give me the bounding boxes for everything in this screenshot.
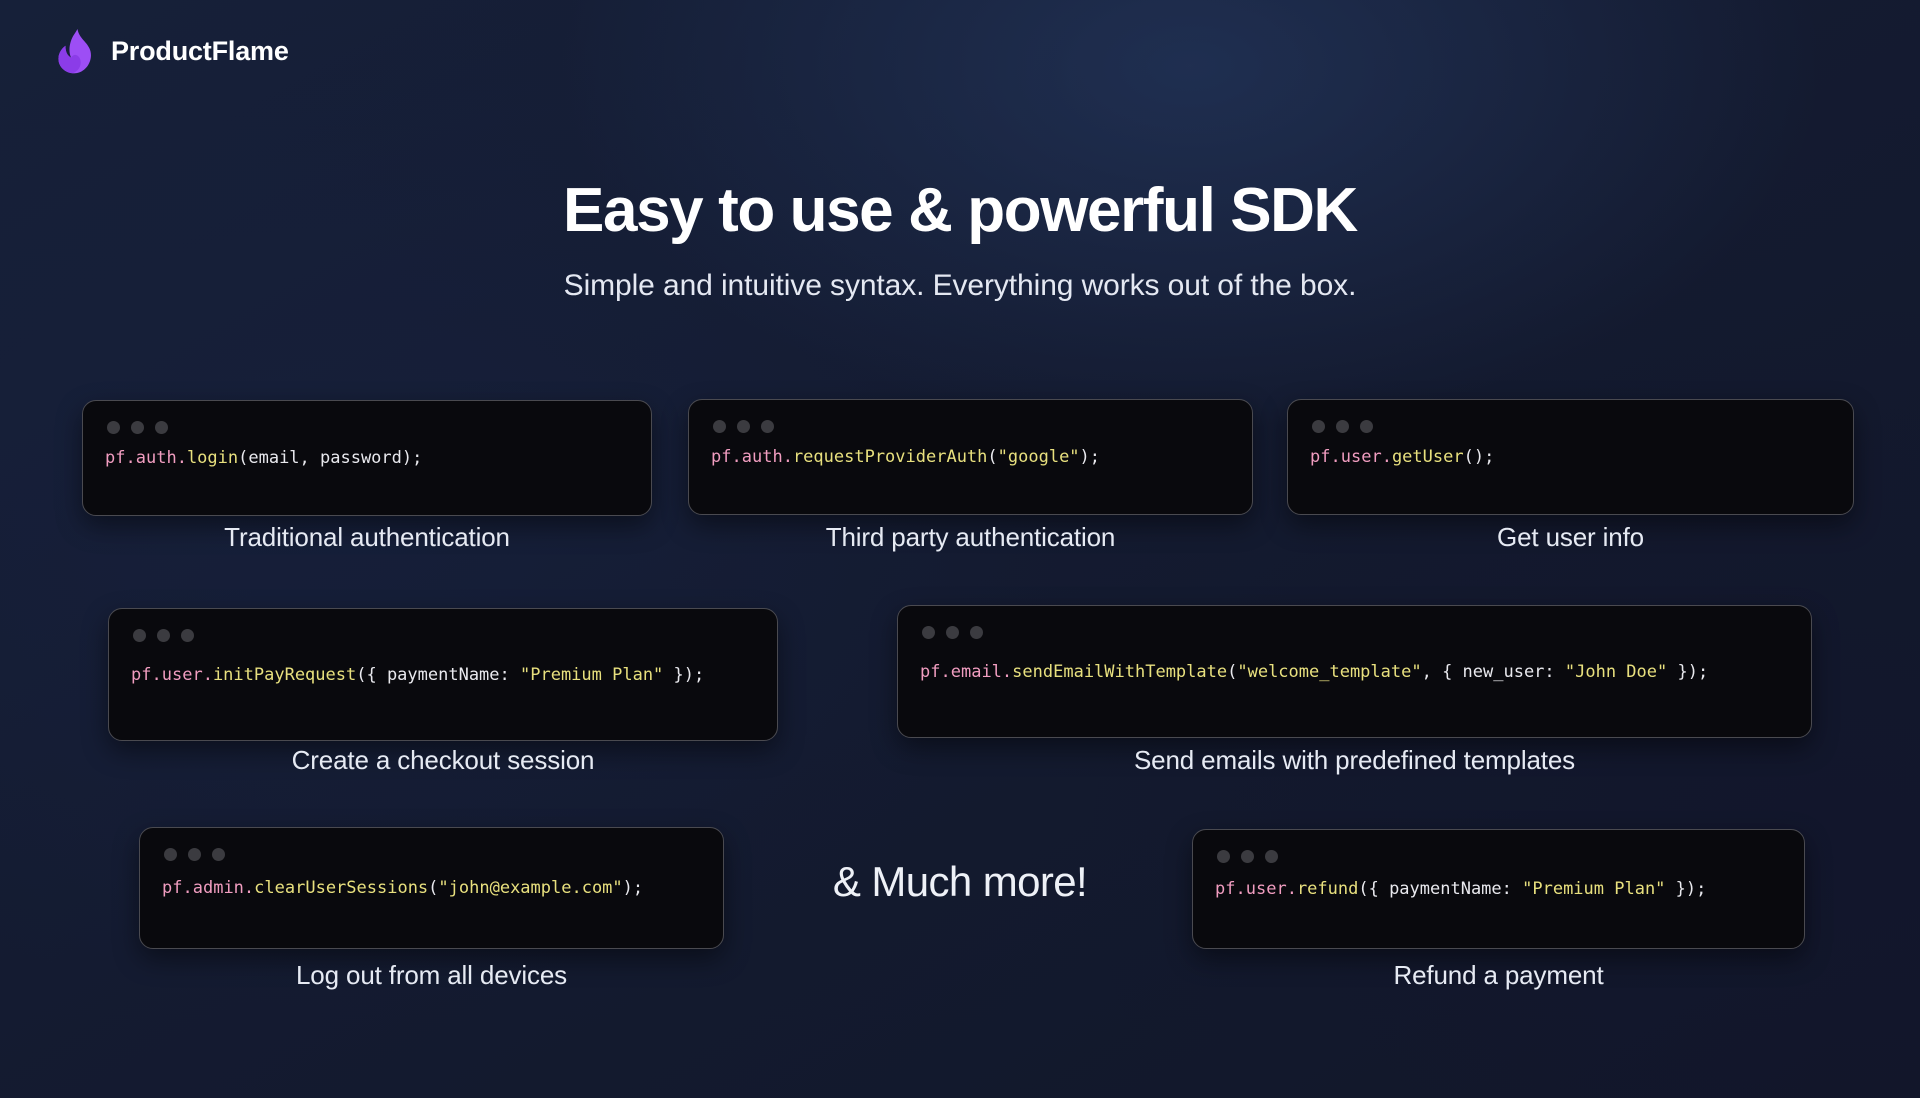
code-token-pl: }); [1667,662,1708,682]
dot-yellow-icon [946,626,959,639]
dot-yellow-icon [131,421,144,434]
code-card-caption: Create a checkout session [108,745,778,776]
code-token-pl: ({ paymentName: [356,665,520,685]
code-token-ns: . [1002,662,1012,682]
code-snippet: pf.user.getUser(); [1310,446,1839,470]
code-card-caption: Traditional authentication [82,522,652,553]
code-token-fn: login [187,448,238,468]
dot-yellow-icon [1336,420,1349,433]
code-token-ns: pf [162,878,182,898]
code-card-traditional-auth[interactable]: pf.auth.login(email, password); [82,400,652,516]
code-card-create-checkout-session[interactable]: pf.user.initPayRequest({ paymentName: "P… [108,608,778,741]
code-token-fn: requestProviderAuth [793,447,987,467]
code-card-get-user-info[interactable]: pf.user.getUser(); [1287,399,1854,515]
code-token-ns: . [940,662,950,682]
code-token-pl: }); [1665,879,1706,899]
dot-green-icon [761,420,774,433]
code-token-ns: pf [131,665,151,685]
code-token-ns: user [162,665,203,685]
dot-green-icon [181,629,194,642]
code-token-str: "Premium Plan" [520,665,663,685]
code-token-ns: . [151,665,161,685]
code-token-pl: ( [428,878,438,898]
flame-icon [55,28,93,74]
code-token-pl: ); [1080,447,1100,467]
window-dots [713,420,774,433]
code-snippet: pf.user.refund({ paymentName: "Premium P… [1215,878,1790,902]
dot-green-icon [970,626,983,639]
code-token-ns: . [125,448,135,468]
window-dots [133,629,194,642]
page-title: Easy to use & powerful SDK [0,178,1920,243]
code-token-ns: . [203,665,213,685]
code-token-pl: ({ paymentName: [1358,879,1522,899]
code-token-ns: . [731,447,741,467]
code-token-fn: getUser [1392,447,1464,467]
dot-yellow-icon [1241,850,1254,863]
window-dots [922,626,983,639]
code-token-pl: }); [663,665,704,685]
code-token-ns: . [1382,447,1392,467]
dot-yellow-icon [188,848,201,861]
dot-red-icon [1217,850,1230,863]
code-token-ns: pf [105,448,125,468]
code-snippet: pf.email.sendEmailWithTemplate("welcome_… [920,661,1797,685]
much-more-text: & Much more! [660,858,1260,906]
window-dots [1217,850,1278,863]
dot-yellow-icon [737,420,750,433]
code-card-caption: Third party authentication [688,522,1253,553]
code-token-ns: pf [1310,447,1330,467]
dot-red-icon [133,629,146,642]
code-token-pl: (); [1464,447,1495,467]
code-token-pl: (email, password); [238,448,422,468]
code-token-ns: . [783,447,793,467]
code-token-str: "google" [998,447,1080,467]
dot-green-icon [1360,420,1373,433]
code-token-ns: pf [711,447,731,467]
dot-red-icon [107,421,120,434]
code-token-ns: . [1287,879,1297,899]
code-snippet: pf.auth.login(email, password); [105,447,637,471]
code-token-pl: ); [623,878,643,898]
code-snippet: pf.user.initPayRequest({ paymentName: "P… [131,664,763,688]
code-token-str: "john@example.com" [438,878,622,898]
dot-yellow-icon [157,629,170,642]
sdk-showcase-page: ProductFlame Easy to use & powerful SDK … [0,0,1920,1098]
dot-red-icon [1312,420,1325,433]
brand-name: ProductFlame [111,36,289,67]
code-card-caption: Log out from all devices [139,960,724,991]
brand-logo[interactable]: ProductFlame [55,28,289,74]
code-card-third-party-auth[interactable]: pf.auth.requestProviderAuth("google"); [688,399,1253,515]
code-token-pl: ( [987,447,997,467]
code-token-fn: clearUserSessions [254,878,428,898]
code-token-fn: refund [1297,879,1358,899]
window-dots [164,848,225,861]
code-card-send-emails-templates[interactable]: pf.email.sendEmailWithTemplate("welcome_… [897,605,1812,738]
code-token-ns: user [1341,447,1382,467]
code-token-ns: . [182,878,192,898]
code-token-ns: email [951,662,1002,682]
code-token-pl: ( [1227,662,1237,682]
dot-green-icon [1265,850,1278,863]
code-card-caption: Refund a payment [1192,960,1805,991]
code-token-ns: . [1235,879,1245,899]
dot-red-icon [713,420,726,433]
code-token-fn: initPayRequest [213,665,356,685]
code-token-ns: auth [136,448,177,468]
code-token-pl: , { new_user: [1422,662,1565,682]
dot-green-icon [155,421,168,434]
page-subtitle: Simple and intuitive syntax. Everything … [0,269,1920,303]
code-token-str: "welcome_template" [1237,662,1421,682]
code-token-ns: auth [742,447,783,467]
code-token-ns: admin [193,878,244,898]
code-token-str: "John Doe" [1565,662,1667,682]
code-card-refund-a-payment[interactable]: pf.user.refund({ paymentName: "Premium P… [1192,829,1805,949]
code-token-ns: user [1246,879,1287,899]
code-token-ns: . [177,448,187,468]
code-snippet: pf.admin.clearUserSessions("john@example… [162,877,709,901]
code-token-ns: pf [1215,879,1235,899]
code-token-fn: sendEmailWithTemplate [1012,662,1227,682]
code-token-ns: . [244,878,254,898]
dot-red-icon [922,626,935,639]
code-snippet: pf.auth.requestProviderAuth("google"); [711,446,1238,470]
code-token-str: "Premium Plan" [1522,879,1665,899]
code-card-caption: Get user info [1287,522,1854,553]
window-dots [107,421,168,434]
code-token-ns: . [1330,447,1340,467]
code-token-ns: pf [920,662,940,682]
dot-red-icon [164,848,177,861]
hero-section: Easy to use & powerful SDK Simple and in… [0,178,1920,303]
window-dots [1312,420,1373,433]
code-card-caption: Send emails with predefined templates [897,745,1812,776]
code-card-log-out-all-devices[interactable]: pf.admin.clearUserSessions("john@example… [139,827,724,949]
dot-green-icon [212,848,225,861]
